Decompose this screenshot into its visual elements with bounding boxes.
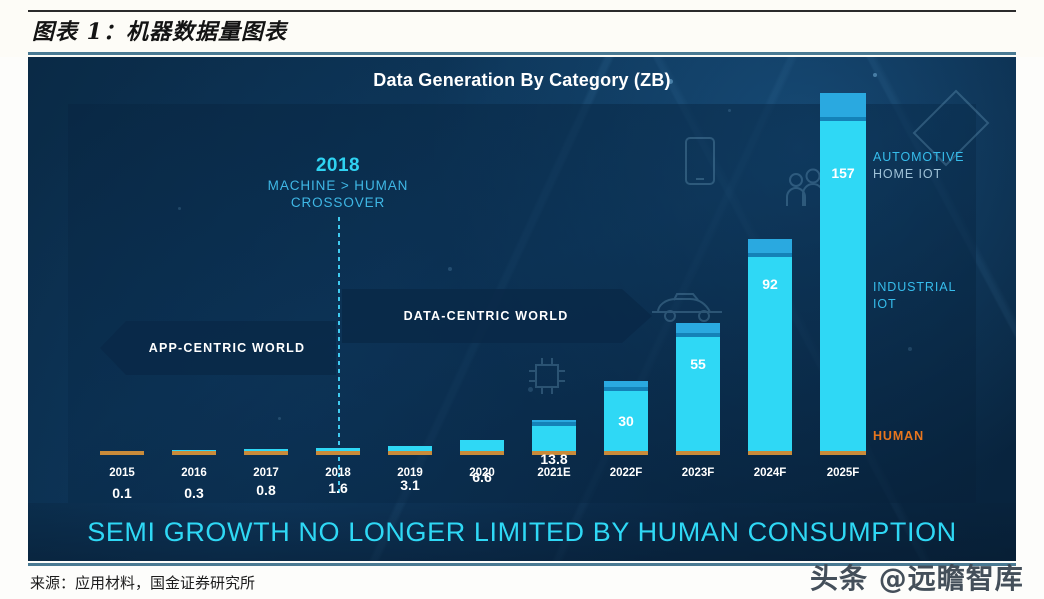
bar-stack bbox=[820, 93, 866, 455]
report-header: 图表 1：机器数据量图表 bbox=[0, 0, 1044, 57]
bar-segment-human bbox=[388, 451, 432, 455]
x-axis-tick-label: 2020 bbox=[469, 467, 495, 479]
bar-group bbox=[100, 454, 144, 455]
bar-group bbox=[460, 454, 504, 455]
bar-segment-human bbox=[172, 451, 216, 455]
bar-group bbox=[820, 454, 866, 455]
x-axis-tick-label: 2015 bbox=[109, 467, 135, 479]
x-axis-tick-label: 2022F bbox=[610, 467, 643, 479]
x-axis-tick-label: 2024F bbox=[754, 467, 787, 479]
bar-stack bbox=[676, 323, 720, 455]
bar-segment-industrial-iot bbox=[532, 426, 576, 451]
bar-value-label: 13.8 bbox=[540, 451, 567, 467]
legend-industrial-iot: INDUSTRIAL IOT bbox=[873, 279, 956, 313]
bar-segment-industrial-iot bbox=[460, 440, 504, 451]
page-title: 图表 1：机器数据量图表 bbox=[32, 14, 287, 46]
bar-value-label: 55 bbox=[690, 356, 706, 372]
bar-group bbox=[244, 454, 288, 455]
banner-text: SEMI GROWTH NO LONGER LIMITED BY HUMAN C… bbox=[87, 517, 957, 548]
legend-label-industrial-2: IOT bbox=[873, 296, 956, 313]
watermark: 头条 @远瞻智库 bbox=[810, 557, 1024, 597]
bar-segment-human bbox=[748, 451, 792, 455]
bar-stack bbox=[532, 420, 576, 455]
bar-stack bbox=[244, 449, 288, 455]
x-axis-tick-label: 2021E bbox=[537, 467, 570, 479]
x-axis-tick-label: 2025F bbox=[827, 467, 860, 479]
bar-segment-automotive bbox=[820, 93, 866, 117]
bar-series: 0.120150.320160.820171.620183.120196.620… bbox=[28, 57, 1016, 561]
bar-segment-human bbox=[316, 451, 360, 455]
bar-group bbox=[388, 454, 432, 455]
header-rule-bottom bbox=[28, 52, 1016, 55]
bar-segment-industrial-iot bbox=[676, 337, 720, 451]
bar-segment-human bbox=[820, 451, 866, 455]
bar-value-label: 92 bbox=[762, 276, 778, 292]
bar-stack bbox=[748, 239, 792, 455]
legend-label-industrial-1: INDUSTRIAL bbox=[873, 279, 956, 296]
bar-value-label: 0.8 bbox=[256, 482, 275, 498]
bar-segment-automotive bbox=[748, 239, 792, 253]
legend-label-home-iot: HOME IOT bbox=[873, 166, 964, 183]
bar-segment-human bbox=[244, 451, 288, 455]
bar-stack bbox=[100, 451, 144, 455]
chart-figure: Data Generation By Category (ZB) 2018 MA… bbox=[28, 57, 1016, 561]
x-axis-tick-label: 2017 bbox=[253, 467, 279, 479]
chart-banner: SEMI GROWTH NO LONGER LIMITED BY HUMAN C… bbox=[28, 503, 1016, 561]
legend-label-human: HUMAN bbox=[873, 428, 924, 445]
bar-stack bbox=[172, 450, 216, 455]
legend-automotive-home-iot: AUTOMOTIVE HOME IOT bbox=[873, 149, 964, 183]
bar-group bbox=[604, 454, 648, 455]
bar-group bbox=[316, 454, 360, 455]
bar-stack bbox=[388, 446, 432, 455]
bar-stack bbox=[316, 448, 360, 455]
bar-value-label: 0.1 bbox=[112, 485, 131, 501]
bar-segment-automotive bbox=[676, 323, 720, 333]
bar-value-label: 30 bbox=[618, 413, 634, 429]
legend-human: HUMAN bbox=[873, 428, 924, 445]
x-axis-tick-label: 2019 bbox=[397, 467, 423, 479]
x-axis-tick-label: 2018 bbox=[325, 467, 351, 479]
bar-segment-human bbox=[460, 451, 504, 455]
bar-value-label: 1.6 bbox=[328, 480, 347, 496]
legend-label-automotive: AUTOMOTIVE bbox=[873, 149, 964, 166]
bar-group bbox=[676, 454, 720, 455]
bar-group bbox=[172, 454, 216, 455]
x-axis-tick-label: 2023F bbox=[682, 467, 715, 479]
bar-segment-human bbox=[100, 451, 144, 455]
header-rule-top bbox=[28, 10, 1016, 12]
bar-stack bbox=[460, 440, 504, 455]
bar-value-label: 3.1 bbox=[400, 477, 419, 493]
bar-value-label: 157 bbox=[831, 165, 854, 181]
bar-value-label: 0.3 bbox=[184, 485, 203, 501]
bar-segment-human bbox=[676, 451, 720, 455]
x-axis-tick-label: 2016 bbox=[181, 467, 207, 479]
source-text: 来源：应用材料，国金证券研究所 bbox=[30, 572, 255, 593]
bar-segment-human bbox=[604, 451, 648, 455]
bar-group bbox=[748, 454, 792, 455]
